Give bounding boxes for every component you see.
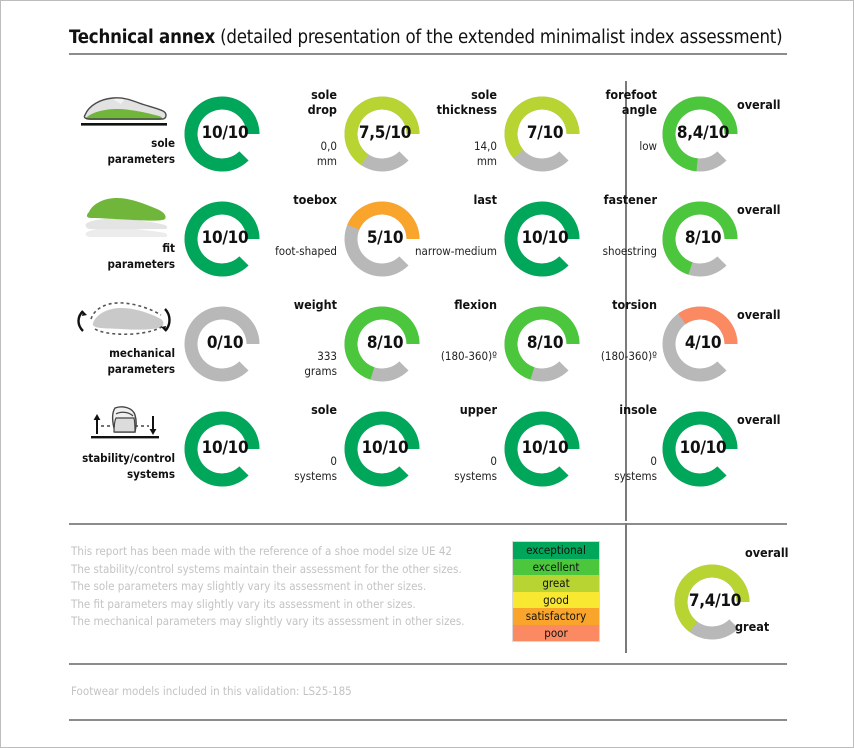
page-title-rest: (detailed presentation of the extended m… — [215, 27, 782, 48]
legend-item: great — [513, 575, 599, 592]
row-overall-gauge-ring — [657, 406, 743, 492]
legend-item: satisfactory — [513, 608, 599, 625]
metric-gauge-ring — [499, 91, 585, 177]
metric-gauge-ring — [499, 196, 585, 282]
global-overall-rating-word: great — [735, 619, 815, 634]
footer-text: Footwear models included in this validat… — [71, 683, 571, 699]
metric-gauge-cell: last5/10narrow-medium — [339, 188, 499, 293]
note-line: The sole parameters may slightly vary it… — [71, 578, 501, 596]
global-overall-title: overall — [745, 545, 815, 560]
metric-value: (180-360)º — [565, 349, 657, 364]
metric-value-line1: 14,0 — [405, 139, 497, 154]
category-label-line2: systems — [69, 466, 175, 482]
category-block: mechanicalparameters — [69, 293, 179, 398]
metric-value: 333grams — [245, 349, 337, 379]
note-line: The fit parameters may slightly vary its… — [71, 596, 501, 614]
metric-value-line2: systems — [565, 469, 657, 484]
metric-value-line1: 0,0 — [245, 139, 337, 154]
footer-bottom-divider — [69, 719, 787, 721]
page-header: Technical annex (detailed presentation o… — [69, 27, 787, 55]
bottom-section: This report has been made with the refer… — [69, 529, 787, 659]
metric-gauge-cell: forefootangle7/10low — [499, 83, 659, 188]
metric-gauge-cell: sole10/100systems — [179, 398, 339, 503]
row-overall-title: overall — [737, 412, 807, 427]
metric-value-line2: grams — [245, 364, 337, 379]
metric-value: (180-360)º — [405, 349, 497, 364]
note-line: The stability/control systems maintain t… — [71, 561, 501, 579]
metric-gauge-cell: weight0/10333grams — [179, 293, 339, 398]
metric-value: 0systems — [405, 454, 497, 484]
metric-value-line1: narrow-medium — [405, 244, 497, 259]
metric-gauge-cell: upper10/100systems — [339, 398, 499, 503]
row-overall-title: overall — [737, 202, 807, 217]
category-label: stability/controlsystems — [69, 450, 175, 482]
shoe-sole-icon — [71, 87, 177, 135]
metric-gauge-cell: insole10/100systems — [499, 398, 659, 503]
row-overall-title: overall — [737, 97, 807, 112]
metric-value-line1: 333 — [245, 349, 337, 364]
category-label-line1: sole — [69, 135, 175, 151]
metric-value-line1: shoestring — [565, 244, 657, 259]
category-label: soleparameters — [69, 135, 175, 167]
metric-gauge-ring — [339, 196, 425, 282]
row-overall-gauge-ring — [657, 301, 743, 387]
page-title-bold: Technical annex — [69, 27, 215, 48]
metric-value-line2: mm — [405, 154, 497, 169]
bottom-divider — [69, 523, 787, 525]
page-title: Technical annex (detailed presentation o… — [69, 27, 787, 48]
header-divider — [69, 53, 787, 55]
metric-value-line1: 0 — [245, 454, 337, 469]
metric-value: shoestring — [565, 244, 657, 259]
metric-value: low — [565, 139, 657, 154]
bottom-vertical-divider — [625, 523, 627, 653]
row-fit-parameters: fitparameterstoebox10/10foot-shapedlast5… — [69, 188, 787, 293]
metric-value-line1: low — [565, 139, 657, 154]
category-label: mechanicalparameters — [69, 345, 175, 377]
category-label: fitparameters — [69, 240, 175, 272]
row-overall-gauge-cell: overall10/10 — [657, 398, 807, 503]
metric-value-line2: mm — [245, 154, 337, 169]
legend-item: excellent — [513, 559, 599, 576]
metric-gauge-cell: toebox10/10foot-shaped — [179, 188, 339, 293]
legend-item: good — [513, 592, 599, 609]
row-overall-gauge-cell: overall8,4/10 — [657, 83, 807, 188]
metric-value-line1: 0 — [405, 454, 497, 469]
metric-value-line1: 0 — [565, 454, 657, 469]
note-line: This report has been made with the refer… — [71, 543, 501, 561]
metric-gauge-ring — [499, 301, 585, 387]
metric-value-line2: systems — [245, 469, 337, 484]
metric-gauge-ring — [339, 301, 425, 387]
category-block: stability/controlsystems — [69, 398, 179, 503]
note-line: The mechanical parameters may slightly v… — [71, 613, 501, 631]
category-label-line1: mechanical — [69, 345, 175, 361]
category-label-line2: parameters — [69, 151, 175, 167]
notes-block: This report has been made with the refer… — [71, 543, 501, 631]
category-label-line1: fit — [69, 240, 175, 256]
shoe-stack-icon — [71, 192, 177, 240]
row-stability-systems: stability/controlsystemssole10/100system… — [69, 398, 787, 503]
row-sole-parameters: soleparameterssoledrop10/100,0mmsolethic… — [69, 83, 787, 188]
metric-value: 14,0mm — [405, 139, 497, 169]
row-overall-gauge-cell: overall8/10 — [657, 188, 807, 293]
metric-gauge-cell: flexion8/10(180-360)º — [339, 293, 499, 398]
metric-gauge-cell: solethickness7,5/1014,0mm — [339, 83, 499, 188]
legend-scale: exceptionalexcellentgreatgoodsatisfactor… — [512, 541, 600, 642]
shoe-stability-icon — [71, 402, 177, 450]
metric-gauge-ring — [179, 196, 265, 282]
category-block: fitparameters — [69, 188, 179, 293]
shoe-flex-icon — [71, 297, 177, 345]
metric-value: 0systems — [565, 454, 657, 484]
assessment-grid: soleparameterssoledrop10/100,0mmsolethic… — [69, 81, 787, 525]
metric-gauge-cell: torsion8/10(180-360)º — [499, 293, 659, 398]
category-label-line1: stability/control — [69, 450, 175, 466]
row-mechanical-parameters: mechanicalparametersweight0/10333gramsfl… — [69, 293, 787, 398]
metric-value: foot-shaped — [245, 244, 337, 259]
row-overall-title: overall — [737, 307, 807, 322]
metric-value: narrow-medium — [405, 244, 497, 259]
metric-value-line1: foot-shaped — [245, 244, 337, 259]
legend-item: poor — [513, 625, 599, 642]
legend-item: exceptional — [513, 542, 599, 559]
metric-gauge-cell: soledrop10/100,0mm — [179, 83, 339, 188]
metric-value-line2: systems — [405, 469, 497, 484]
row-overall-gauge-ring — [657, 196, 743, 282]
metric-value: 0,0mm — [245, 139, 337, 169]
metric-value-line1: (180-360)º — [405, 349, 497, 364]
metric-value-line1: (180-360)º — [565, 349, 657, 364]
metric-gauge-cell: fastener10/10shoestring — [499, 188, 659, 293]
category-label-line2: parameters — [69, 256, 175, 272]
global-overall-gauge-block: overall 7,4/10 great — [649, 541, 809, 651]
metric-value: 0systems — [245, 454, 337, 484]
category-label-line2: parameters — [69, 361, 175, 377]
technical-annex-page: Technical annex (detailed presentation o… — [0, 0, 854, 748]
category-block: soleparameters — [69, 83, 179, 188]
footer-top-divider — [69, 663, 787, 665]
row-overall-gauge-ring — [657, 91, 743, 177]
row-overall-gauge-cell: overall4/10 — [657, 293, 807, 398]
